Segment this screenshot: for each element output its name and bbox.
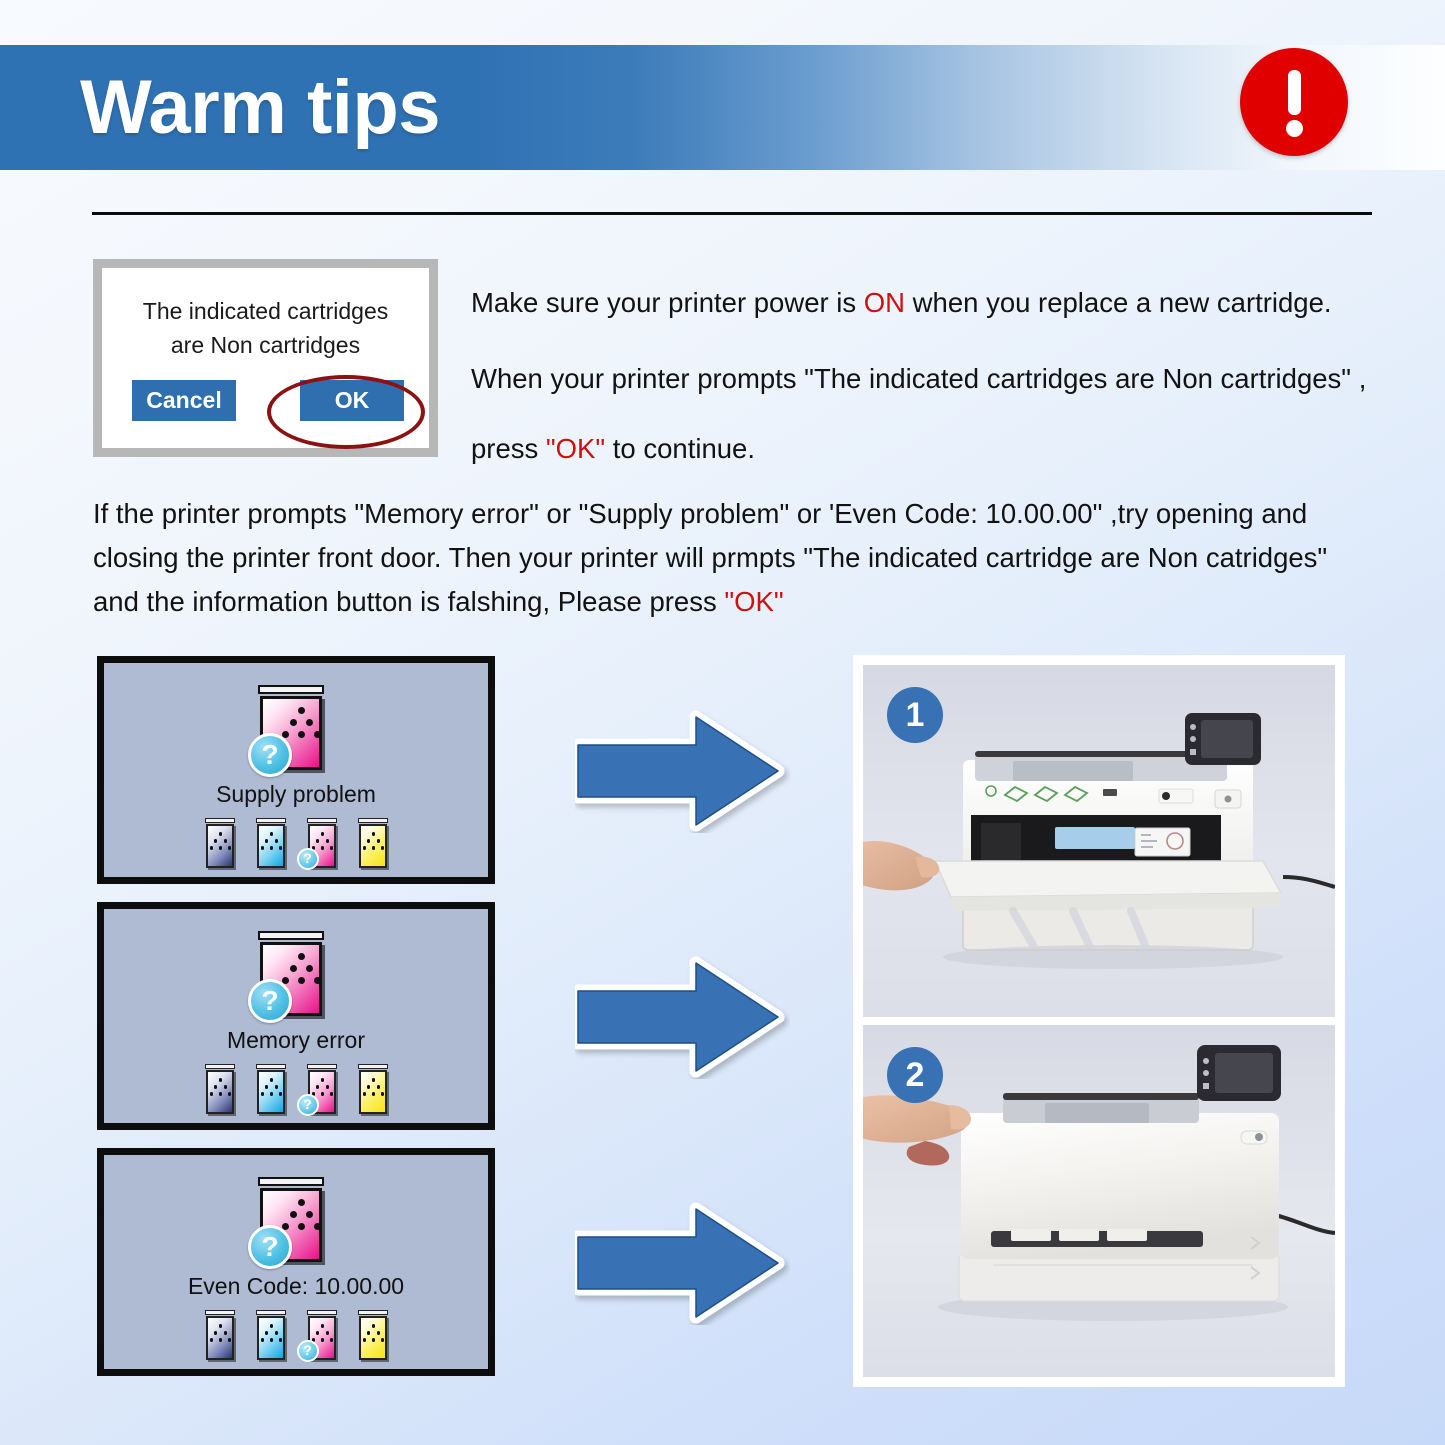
dialog-button-row: Cancel OK [132, 380, 404, 421]
cartridge-cap [258, 685, 324, 694]
dialog-message: The indicated cartridges are Non cartrid… [102, 294, 429, 362]
cartridge-status-row: ? [104, 818, 488, 870]
p1-highlight-on: ON [864, 287, 905, 318]
dialog-message-line2: are Non cartridges [171, 332, 360, 358]
cartridge-indicator-magenta: ? [305, 1310, 339, 1362]
cancel-button[interactable]: Cancel [132, 380, 236, 421]
cartridge-indicator-magenta: ? [305, 818, 339, 870]
paragraph-3: If the printer prompts "Memory error" or… [93, 492, 1363, 624]
cartridge-indicator-yellow [356, 1064, 390, 1116]
cartridge-indicator-magenta: ? [305, 1064, 339, 1116]
arrow-right-icon [575, 951, 790, 1079]
question-mark-icon: ? [297, 1094, 319, 1116]
cartridge-indicator-black [203, 818, 237, 870]
error-label: Memory error [104, 1027, 488, 1054]
p2-highlight-ok: "OK" [546, 433, 605, 464]
error-screen-panel: ? Even Code: 10.00.00 ? [97, 1148, 495, 1376]
cartridge-status-row: ? [104, 1310, 488, 1362]
p1-text-b: when you replace a new cartridge. [905, 287, 1332, 318]
printer-dialog-mockup: The indicated cartridges are Non cartrid… [93, 259, 438, 457]
cartridge-icon-large: ? [248, 931, 344, 1027]
paragraph-1: Make sure your printer power is ON when … [471, 287, 1332, 318]
exclamation-circle-icon [1240, 48, 1348, 156]
arrow-right-icon [575, 1197, 790, 1325]
intro-paragraphs: Make sure your printer power is ON when … [471, 268, 1391, 484]
question-mark-icon: ? [248, 1225, 292, 1269]
p3-highlight-ok: "OK" [724, 586, 783, 617]
error-label: Even Code: 10.00.00 [104, 1273, 488, 1300]
page-title: Warm tips [80, 55, 440, 160]
photo-frame: 1 [854, 656, 1344, 1386]
question-mark-icon: ? [297, 848, 319, 870]
cartridge-icon-large: ? [248, 685, 344, 781]
cartridge-cap [258, 1177, 324, 1186]
step-badge-1: 1 [887, 687, 943, 743]
question-mark-icon: ? [248, 979, 292, 1023]
header-divider [92, 212, 1372, 215]
paragraph-2: When your printer prompts "The indicated… [471, 344, 1391, 484]
cartridge-indicator-cyan [254, 1064, 288, 1116]
ok-button[interactable]: OK [300, 380, 404, 421]
p1-text-a: Make sure your printer power is [471, 287, 864, 318]
dialog-message-line1: The indicated cartridges [143, 298, 388, 324]
cartridge-indicator-yellow [356, 818, 390, 870]
cartridge-status-row: ? [104, 1064, 488, 1116]
p3-text-a: If the printer prompts "Memory error" or… [93, 498, 1327, 617]
cartridge-cap [258, 931, 324, 940]
error-label: Supply problem [104, 781, 488, 808]
step-badge-2: 2 [887, 1047, 943, 1103]
cartridge-indicator-yellow [356, 1310, 390, 1362]
question-mark-icon: ? [248, 733, 292, 777]
exclamation-stem [1288, 70, 1301, 115]
cartridge-indicator-cyan [254, 818, 288, 870]
printer-photo-step-2: 2 [863, 1025, 1335, 1377]
question-mark-icon: ? [297, 1340, 319, 1362]
exclamation-dot [1286, 120, 1303, 137]
arrow-right-icon [575, 705, 790, 833]
cartridge-indicator-black [203, 1310, 237, 1362]
printer-photo-step-1: 1 [863, 665, 1335, 1017]
cartridge-icon-large: ? [248, 1177, 344, 1273]
cartridge-indicator-black [203, 1064, 237, 1116]
warm-tips-page: Warm tips The indicated cartridges are N… [0, 0, 1445, 1445]
p2-text-b: to continue. [605, 433, 755, 464]
error-screen-panel: ? Supply problem ? [97, 656, 495, 884]
cartridge-indicator-cyan [254, 1310, 288, 1362]
error-screen-panel: ? Memory error ? [97, 902, 495, 1130]
